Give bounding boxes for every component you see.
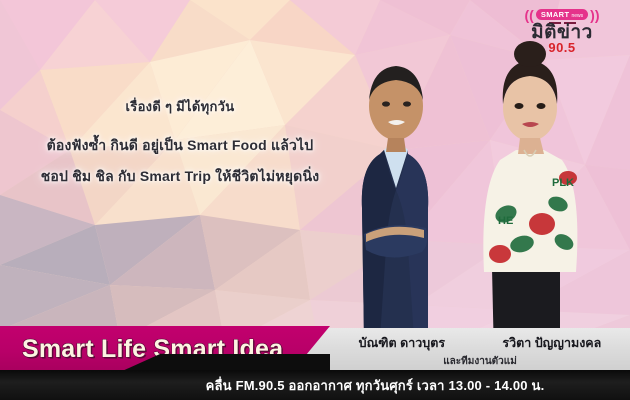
smart-news-pill: SMART news	[536, 9, 588, 20]
headline-line-2: ต้องฟังซ้ำ กินดี อยู่เป็น Smart Food แล้…	[0, 135, 360, 157]
headline-copy: เรื่องดี ๆ มีได้ทุกวัน ต้องฟังซ้ำ กินดี …	[0, 96, 360, 188]
svg-text:PLK: PLK	[552, 177, 574, 189]
pill-sub-text: news	[571, 14, 583, 19]
broadcast-schedule-text: คลื่น FM.90.5 ออกอากาศ ทุกวันศุกร์ เวลา …	[0, 370, 630, 400]
svg-text:HE: HE	[498, 215, 513, 227]
smart-news-badge: (( SMART news ))	[508, 8, 616, 21]
pill-main-text: SMART	[541, 11, 570, 19]
right-paren-icon: ))	[590, 8, 599, 22]
host-names-row: บัณฑิต ดาวบุตร รวิตา ปัญญามงคล	[330, 333, 630, 353]
host-name-left: บัณฑิต ดาวบุตร	[359, 333, 445, 353]
host-photo-female: PLK HE	[440, 28, 610, 358]
headline-line-1: เรื่องดี ๆ มีได้ทุกวัน	[0, 96, 360, 117]
host-name-right: รวิตา ปัญญามงคล	[502, 333, 601, 353]
radio-show-promo-poster: (( SMART news )) มิติข่าว 90.5 เรื่องดี …	[0, 0, 630, 400]
headline-line-3: ชอป ชิม ชิล กับ Smart Trip ให้ชีวิตไม่หย…	[0, 166, 360, 188]
host-team-note: และทีมงานตัวแม่	[330, 354, 630, 369]
left-paren-icon: ((	[524, 8, 533, 22]
